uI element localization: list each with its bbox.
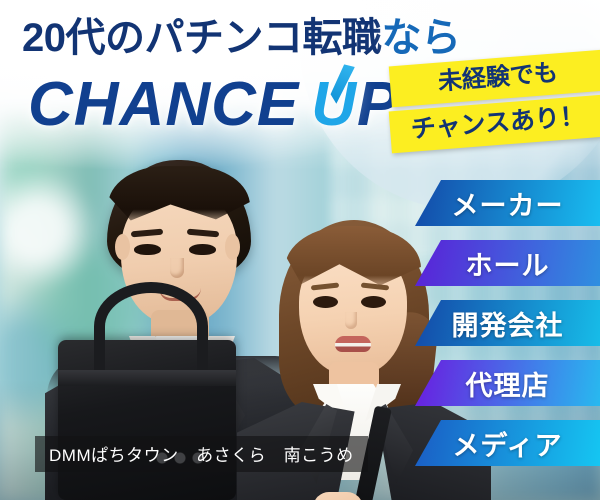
category-label: メーカー <box>452 184 564 223</box>
female-eye-left <box>313 296 338 308</box>
logo-word-chance: CHANCE <box>28 70 299 139</box>
male-ear-right <box>225 234 240 260</box>
male-eye-left <box>134 244 161 255</box>
category-button-hall[interactable]: ホール <box>415 240 600 286</box>
female-mouth <box>335 336 371 352</box>
category-button-agency[interactable]: 代理店 <box>415 360 600 406</box>
female-eye-right <box>361 296 386 308</box>
briefcase <box>58 340 236 500</box>
category-label: メディア <box>452 424 562 463</box>
category-button-developer[interactable]: 開発会社 <box>415 300 600 346</box>
male-nose <box>170 258 184 278</box>
logo-word-up: UP <box>311 74 399 136</box>
category-label: ホール <box>466 244 550 283</box>
category-label: 開発会社 <box>452 304 564 343</box>
promo-banner: 20代のパチンコ転職なら CHANCEUP 未経験でも チャンスあり！ メーカー… <box>0 0 600 500</box>
female-nose <box>345 312 357 329</box>
chance-up-logo: CHANCEUP <box>28 74 399 136</box>
male-ear-left <box>115 234 130 260</box>
headline: 20代のパチンコ転職なら <box>22 18 461 58</box>
headline-main: 20代のパチンコ転職 <box>22 16 382 60</box>
briefcase-handle <box>94 282 208 371</box>
category-list: メーカー ホール 開発会社 代理店 メディア <box>415 180 600 480</box>
highlight-badge: 未経験でも チャンスあり！ <box>390 58 600 145</box>
logo-letter-u: U <box>311 74 357 136</box>
category-button-maker[interactable]: メーカー <box>415 180 600 226</box>
briefcase-flap <box>58 370 236 386</box>
credit-caption: DMMぱちタウン あさくら 南こうめ <box>35 436 368 472</box>
category-button-media[interactable]: メディア <box>415 420 600 466</box>
headline-suffix: なら <box>382 16 461 60</box>
male-eye-right <box>189 244 216 255</box>
category-label: 代理店 <box>466 364 550 403</box>
